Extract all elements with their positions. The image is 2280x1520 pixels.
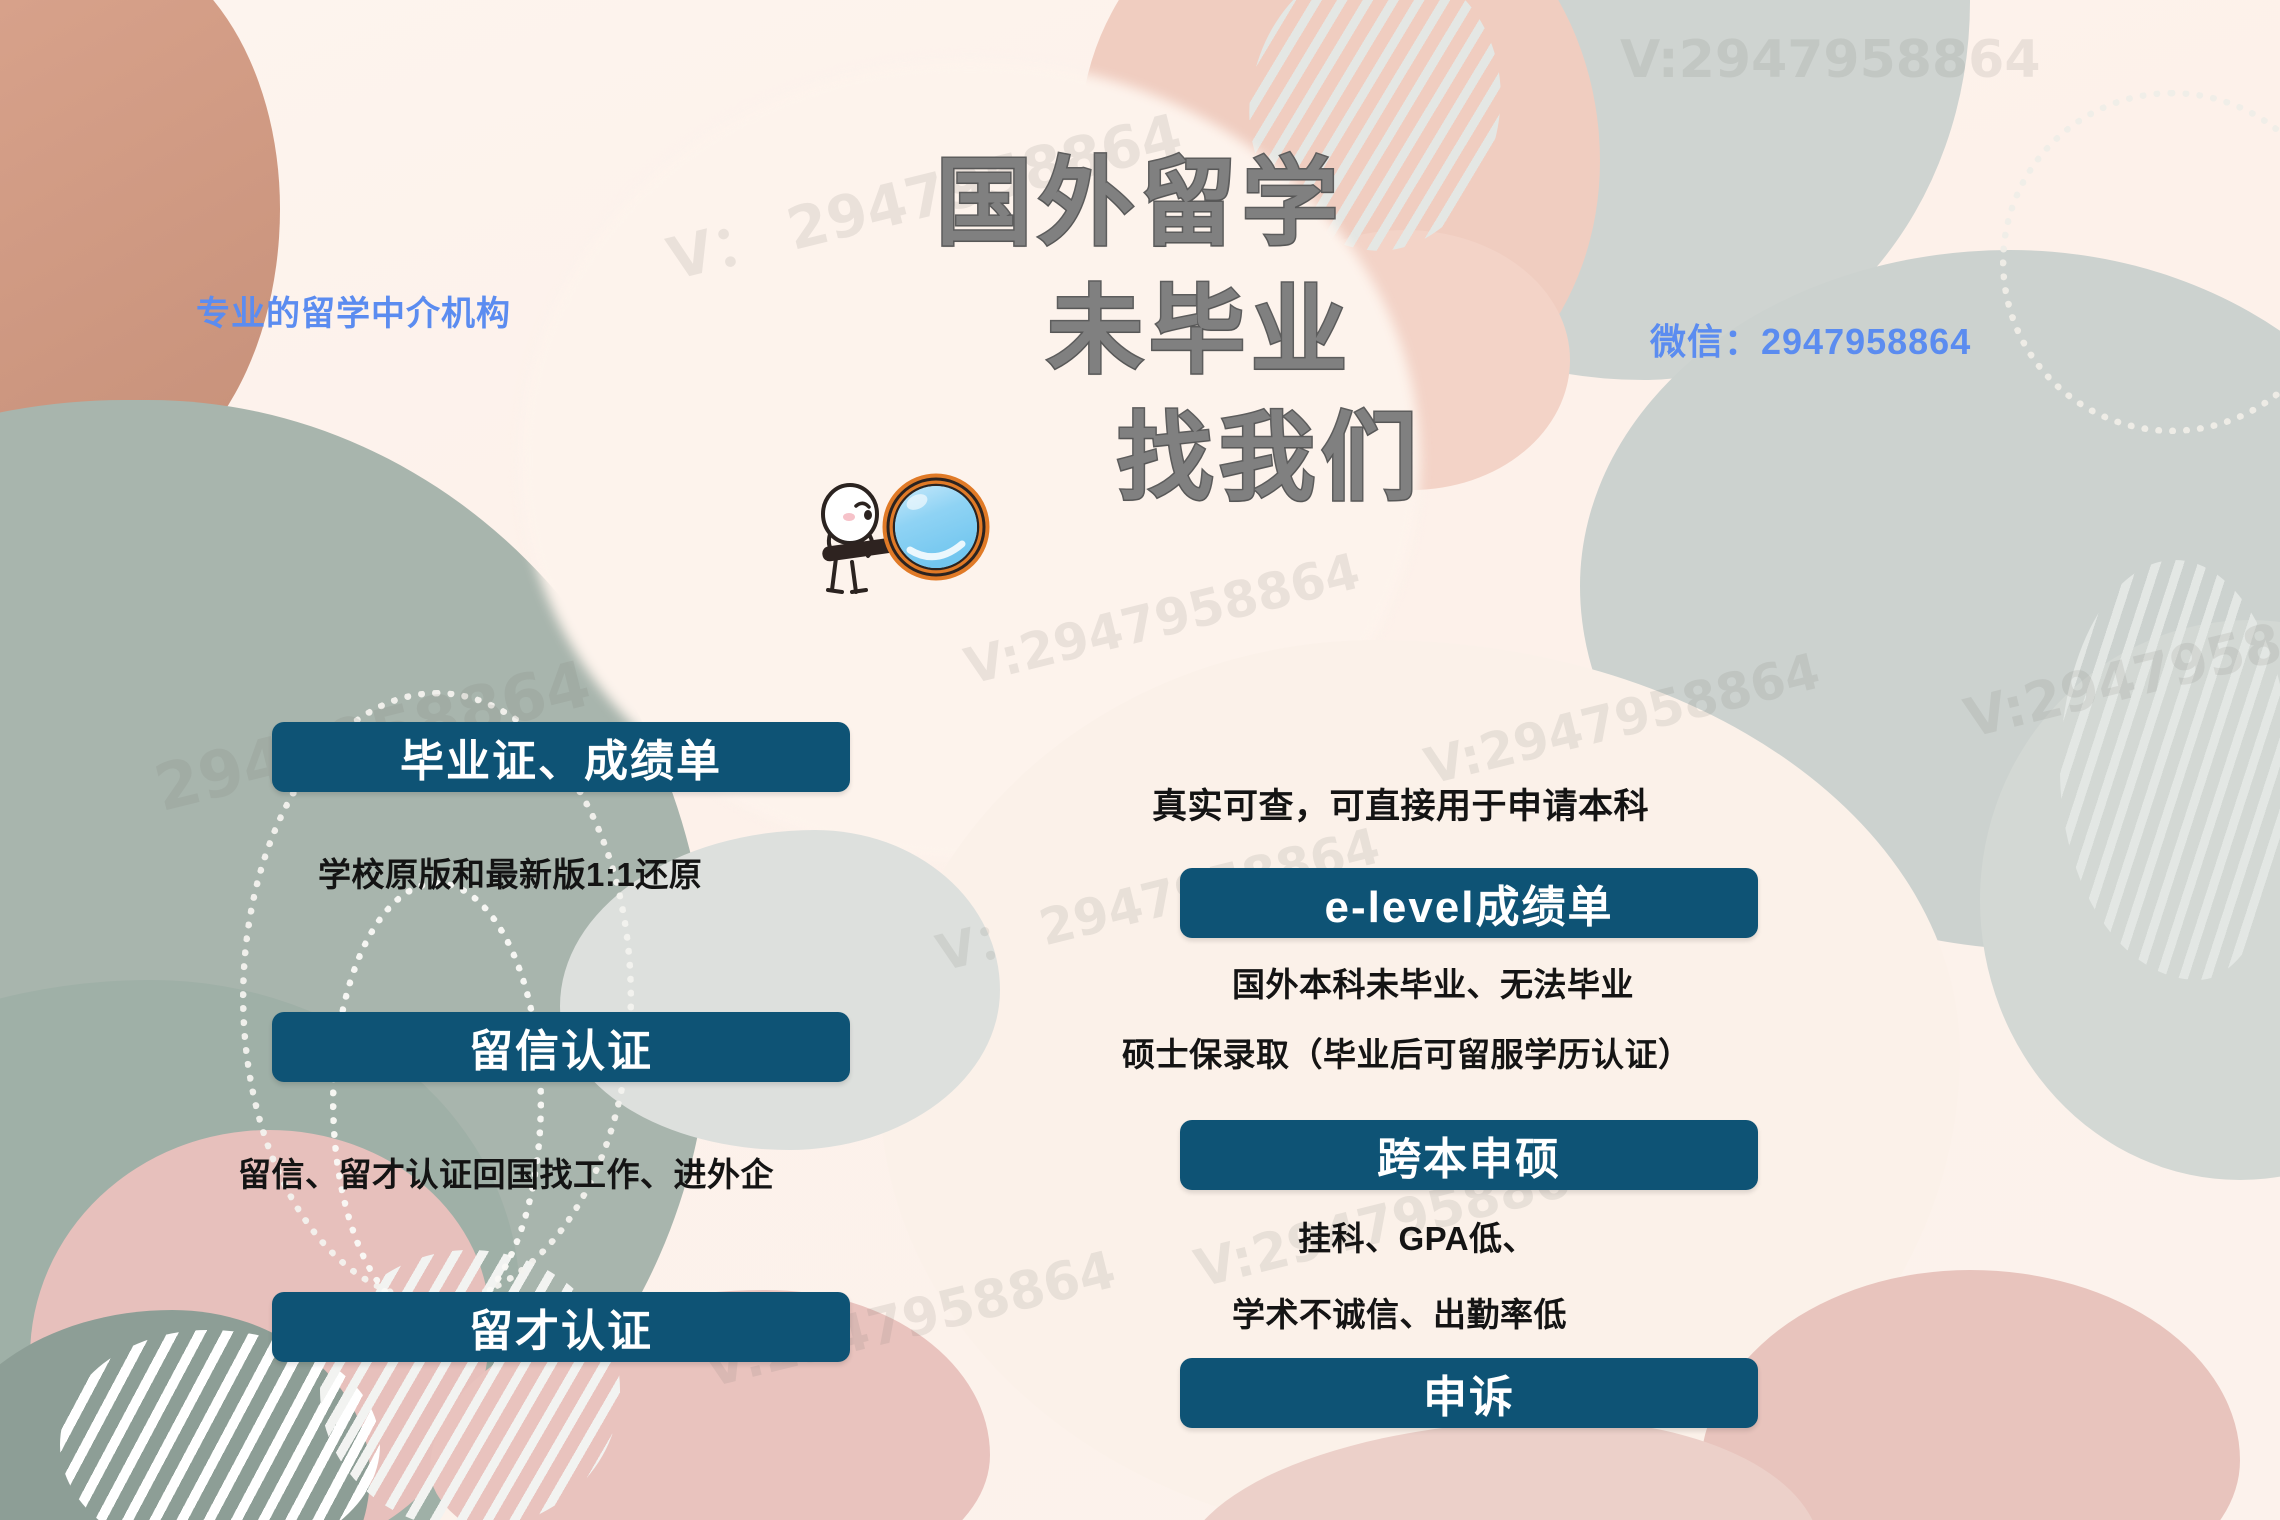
badge-label: 毕业证、成绩单 bbox=[400, 725, 722, 789]
badge-label: e-level成绩单 bbox=[1325, 871, 1614, 935]
subtitle-verifiable-intro: 真实可查，可直接用于申请本科 bbox=[1152, 778, 1649, 829]
headline-line-3: 找我们 bbox=[1020, 395, 1520, 523]
badge-label: 留信认证 bbox=[469, 1015, 653, 1079]
subtitle-e-level-line-2: 硕士保录取（毕业后可留服学历认证） bbox=[1122, 1028, 1692, 1076]
badge-label: 申诉 bbox=[1423, 1361, 1515, 1425]
subtitle-e-level-line-1: 国外本科未毕业、无法毕业 bbox=[1232, 958, 1634, 1006]
badge-label: 留才认证 bbox=[469, 1295, 653, 1359]
badge-diploma-transcript[interactable]: 毕业证、成绩单 bbox=[272, 722, 850, 792]
agency-tagline: 专业的留学中介机构 bbox=[196, 286, 511, 335]
subtitle-diploma-transcript: 学校原版和最新版1:1还原 bbox=[318, 848, 702, 896]
badge-appeal[interactable]: 申诉 bbox=[1180, 1358, 1758, 1428]
badge-liuxin-certification[interactable]: 留信认证 bbox=[272, 1012, 850, 1082]
poster-root: V:2947958864V： 2947958864V:2947958864294… bbox=[0, 0, 2280, 1520]
content-layer: 专业的留学中介机构 微信：2947958864 国外留学 未毕业 找我们 bbox=[0, 0, 2280, 1520]
subtitle-cross-major-line-2: 学术不诚信、出勤率低 bbox=[1232, 1288, 1567, 1336]
wechat-contact-label[interactable]: 微信：2947958864 bbox=[1650, 313, 1971, 365]
subtitle-cross-major-line-1: 挂科、GPA低、 bbox=[1298, 1212, 1536, 1260]
badge-cross-major-master[interactable]: 跨本申硕 bbox=[1180, 1120, 1758, 1190]
badge-liucai-certification[interactable]: 留才认证 bbox=[272, 1292, 850, 1362]
headline-line-2: 未毕业 bbox=[880, 268, 1520, 396]
magnifying-glass-person-icon bbox=[812, 462, 992, 602]
badge-e-level-transcript[interactable]: e-level成绩单 bbox=[1180, 868, 1758, 938]
badge-label: 跨本申硕 bbox=[1377, 1123, 1561, 1187]
subtitle-liuxin-certification: 留信、留才认证回国找工作、进外企 bbox=[238, 1148, 774, 1196]
headline-line-1: 国外留学 bbox=[760, 140, 1520, 268]
